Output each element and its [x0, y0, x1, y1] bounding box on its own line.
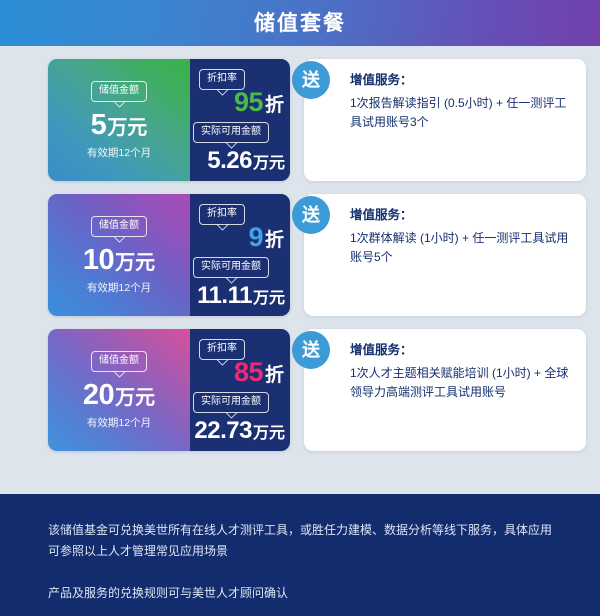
plan-validity: 有效期12个月	[87, 148, 151, 159]
gift-box: 送 增值服务： 1次报告解读指引 (0.5小时) + 任一测评工具试用账号3个	[304, 59, 586, 181]
plan-available-unit: 万元	[253, 155, 285, 172]
plan-card[interactable]: 储值金额 10万元 有效期12个月 折扣率 9折 实际可用金额	[48, 194, 290, 316]
plan-available: 5.26万元	[207, 149, 285, 173]
plan-discount-number: 95	[234, 87, 263, 117]
gift-title: 增值服务：	[350, 344, 572, 357]
plan-card[interactable]: 储值金额 20万元 有效期12个月 折扣率 85折 实际可用金额	[48, 329, 290, 451]
available-tag: 实际可用金额	[193, 257, 269, 278]
page-title: 储值套餐	[254, 13, 346, 34]
plan-row: 储值金额 20万元 有效期12个月 折扣率 85折 实际可用金额	[0, 329, 600, 451]
plan-amount-number: 5	[91, 109, 107, 141]
discount-tag: 折扣率	[199, 204, 245, 225]
plan-amount-number: 10	[83, 244, 114, 276]
plan-amount-panel: 储值金额 5万元 有效期12个月	[48, 59, 190, 181]
plan-card[interactable]: 储值金额 5万元 有效期12个月 折扣率 95折 实际可用金额	[48, 59, 290, 181]
plan-discount: 95折	[234, 89, 284, 116]
amount-tag: 储值金额	[91, 216, 147, 237]
footer-note-1: 该储值基金可兑换美世所有在线人才测评工具，或胜任力建模、数据分析等线下服务，具体…	[48, 520, 552, 561]
gift-text: 1次报告解读指引 (0.5小时) + 任一测评工具试用账号3个	[350, 94, 572, 133]
plan-discount-panel: 折扣率 95折 实际可用金额 5.26万元	[190, 59, 290, 181]
available-tag-wrap: 实际可用金额	[193, 256, 269, 278]
plan-row: 储值金额 10万元 有效期12个月 折扣率 9折 实际可用金额	[0, 194, 600, 316]
plan-validity: 有效期12个月	[87, 418, 151, 429]
plan-available-unit: 万元	[253, 290, 285, 307]
gift-box: 送 增值服务： 1次人才主题相关赋能培训 (1小时) + 全球领导力高端测评工具…	[304, 329, 586, 451]
plan-discount-number: 9	[248, 222, 263, 252]
plan-available: 11.11万元	[197, 284, 285, 308]
gift-badge-icon: 送	[292, 196, 330, 234]
amount-tag: 储值金额	[91, 351, 147, 372]
plan-available-number: 11.11	[197, 282, 252, 309]
plan-validity: 有效期12个月	[87, 283, 151, 294]
plan-discount-panel: 折扣率 9折 实际可用金额 11.11万元	[190, 194, 290, 316]
plan-discount-suffix: 折	[265, 230, 284, 251]
plan-discount-suffix: 折	[265, 365, 284, 386]
plan-amount: 10万元	[83, 246, 155, 275]
plan-available-unit: 万元	[253, 425, 285, 442]
gift-badge-icon: 送	[292, 61, 330, 99]
gift-text: 1次群体解读 (1小时) + 任一测评工具试用账号5个	[350, 229, 572, 268]
gift-box: 送 增值服务： 1次群体解读 (1小时) + 任一测评工具试用账号5个	[304, 194, 586, 316]
gift-badge-icon: 送	[292, 331, 330, 369]
plan-discount-panel: 折扣率 85折 实际可用金额 22.73万元	[190, 329, 290, 451]
promo-page: 储值套餐 储值金额 5万元 有效期12个月 折扣率 95折	[0, 0, 600, 616]
plan-amount-panel: 储值金额 10万元 有效期12个月	[48, 194, 190, 316]
plan-available: 22.73万元	[194, 419, 285, 443]
footer-notes: 该储值基金可兑换美世所有在线人才测评工具，或胜任力建模、数据分析等线下服务，具体…	[0, 494, 600, 616]
footer-note-2: 产品及服务的兑换规则可与美世人才顾问确认	[48, 583, 552, 604]
plan-amount: 20万元	[83, 381, 155, 410]
plan-amount-number: 20	[83, 379, 114, 411]
plan-amount-unit: 万元	[115, 252, 155, 274]
plan-available-number: 5.26	[207, 147, 252, 174]
available-tag-wrap: 实际可用金额	[193, 121, 269, 143]
plan-amount-unit: 万元	[115, 387, 155, 409]
page-header: 储值套餐	[0, 0, 600, 46]
available-tag-wrap: 实际可用金额	[193, 391, 269, 413]
amount-tag: 储值金额	[91, 81, 147, 102]
gift-title: 增值服务：	[350, 74, 572, 87]
plan-amount-panel: 储值金额 20万元 有效期12个月	[48, 329, 190, 451]
discount-tag-wrap: 折扣率	[199, 203, 245, 225]
plan-list: 储值金额 5万元 有效期12个月 折扣率 95折 实际可用金额	[0, 46, 600, 494]
plan-amount: 5万元	[91, 111, 148, 140]
plan-discount-suffix: 折	[265, 95, 284, 116]
gift-text: 1次人才主题相关赋能培训 (1小时) + 全球领导力高端测评工具试用账号	[350, 364, 572, 403]
plan-discount-number: 85	[234, 357, 263, 387]
available-tag: 实际可用金额	[193, 392, 269, 413]
gift-title: 增值服务：	[350, 209, 572, 222]
plan-row: 储值金额 5万元 有效期12个月 折扣率 95折 实际可用金额	[0, 59, 600, 181]
plan-amount-unit: 万元	[107, 117, 147, 139]
plan-discount: 85折	[234, 359, 284, 386]
plan-available-number: 22.73	[194, 417, 252, 444]
plan-discount: 9折	[248, 224, 284, 251]
available-tag: 实际可用金额	[193, 122, 269, 143]
